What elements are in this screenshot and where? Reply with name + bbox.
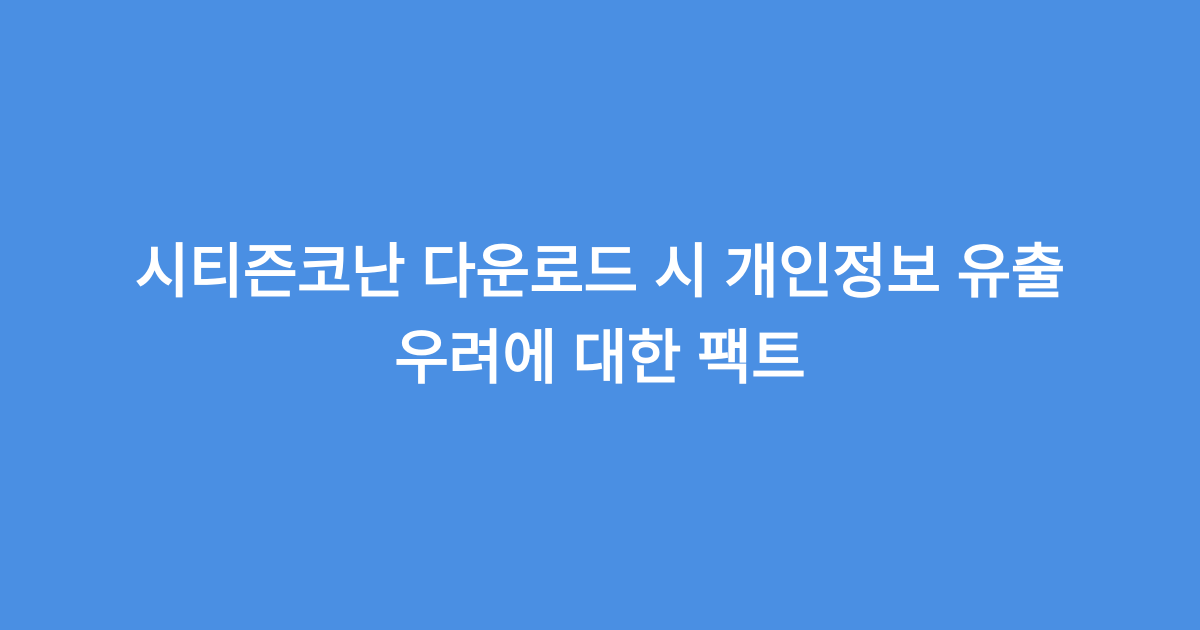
headline-block: 시티즌코난 다운로드 시 개인정보 유출 우려에 대한 팩트 — [0, 229, 1200, 401]
page-title: 시티즌코난 다운로드 시 개인정보 유출 우려에 대한 팩트 — [56, 229, 1144, 401]
og-card: 시티즌코난 다운로드 시 개인정보 유출 우려에 대한 팩트 — [0, 0, 1200, 630]
